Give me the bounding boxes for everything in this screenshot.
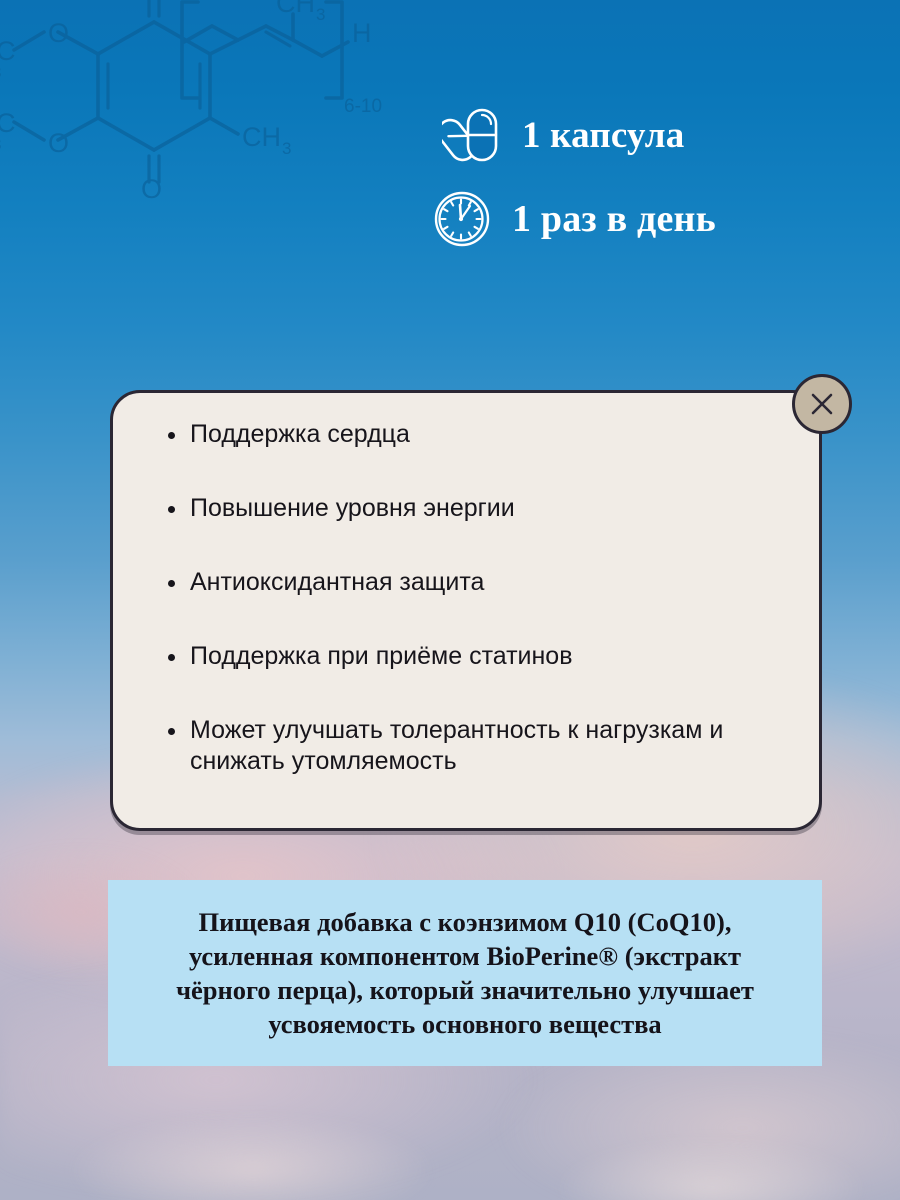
svg-text:CH: CH (242, 122, 281, 152)
product-description-box: Пищевая добавка с коэнзимом Q10 (CoQ10),… (108, 880, 822, 1066)
svg-text:H: H (352, 18, 372, 48)
benefits-list: Поддержка сердца Повышение уровня энерги… (113, 393, 819, 777)
svg-text:3: 3 (282, 139, 291, 158)
list-item: Поддержка сердца (190, 419, 783, 450)
dosage-label-frequency: 1 раз в день (512, 200, 716, 238)
svg-text:6-10: 6-10 (344, 96, 382, 117)
benefits-card: Поддержка сердца Повышение уровня энерги… (110, 390, 822, 831)
clock-icon (432, 188, 494, 250)
list-item: Поддержка при приёме статинов (190, 641, 783, 672)
list-item: Повышение уровня энергии (190, 493, 783, 524)
coq10-chemical-structure-icon: HC3 HC3 O O O O CH3 CH3 H 6-10 (0, 0, 416, 214)
svg-text:3: 3 (316, 5, 325, 24)
list-item: Может улучшать толерантность к нагрузкам… (190, 715, 783, 777)
svg-text:C: C (0, 36, 16, 66)
capsule-icon (442, 104, 504, 166)
svg-text:3: 3 (0, 135, 1, 154)
svg-text:O: O (48, 128, 69, 158)
svg-text:O: O (48, 18, 69, 48)
product-description-text: Пищевая добавка с коэнзимом Q10 (CoQ10),… (142, 905, 788, 1041)
close-icon (807, 389, 837, 419)
dosage-row-capsule: 1 капсула (430, 104, 860, 166)
dosage-row-frequency: 1 раз в день (430, 188, 860, 250)
svg-text:C: C (0, 108, 16, 138)
list-item: Антиоксидантная защита (190, 567, 783, 598)
svg-text:3: 3 (0, 63, 1, 82)
dosage-label-capsule: 1 капсула (522, 117, 684, 154)
dosage-block: 1 капсула (430, 104, 860, 250)
svg-text:O: O (141, 174, 162, 204)
product-infographic: HC3 HC3 O O O O CH3 CH3 H 6-10 1 (0, 0, 900, 1200)
svg-text:CH: CH (276, 0, 315, 18)
close-button[interactable] (792, 374, 852, 434)
